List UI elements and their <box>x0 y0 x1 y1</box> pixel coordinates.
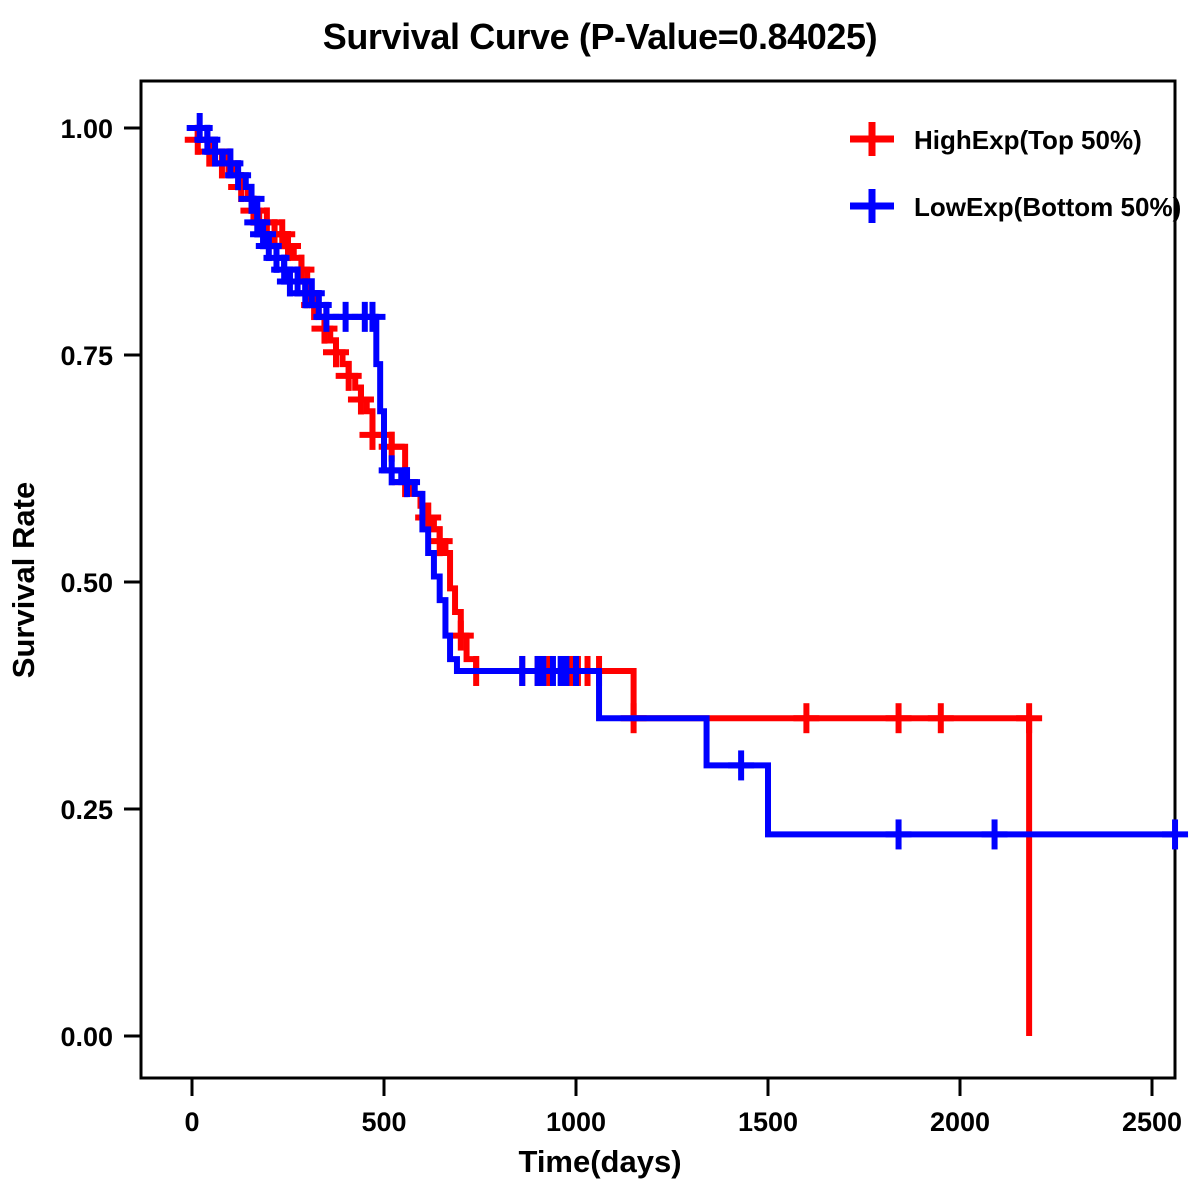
legend-label: LowExp(Bottom 50%) <box>914 192 1181 222</box>
plus-marker <box>850 122 894 156</box>
series-lowexp <box>187 113 1188 849</box>
x-tick-label: 500 <box>361 1107 406 1137</box>
x-axis-label: Time(days) <box>518 1144 681 1179</box>
censor-plus-marker <box>886 703 912 733</box>
y-tick-label: 0.50 <box>60 568 113 598</box>
y-axis-label: Survival Rate <box>6 482 41 678</box>
censor-plus-marker <box>886 819 912 849</box>
legend-item-highexp[interactable]: HighExp(Top 50%) <box>850 122 1142 156</box>
censor-plus-marker <box>728 750 754 780</box>
x-tick-label: 2500 <box>1122 1107 1182 1137</box>
x-tick-label: 2000 <box>930 1107 990 1137</box>
censor-plus-marker <box>1162 819 1188 849</box>
y-tick-label: 0.00 <box>60 1022 113 1052</box>
series-group <box>185 113 1188 1036</box>
legend-label: HighExp(Top 50%) <box>914 125 1142 155</box>
plot-frame <box>141 81 1175 1078</box>
x-axis: 05001000150020002500 <box>184 1078 1182 1137</box>
x-tick-label: 0 <box>184 1107 199 1137</box>
chart-legend: HighExp(Top 50%)LowExp(Bottom 50%) <box>850 122 1181 223</box>
y-tick-label: 1.00 <box>60 114 113 144</box>
survival-plot: 0.000.250.500.751.00 0500100015002000250… <box>0 0 1200 1200</box>
censor-plus-marker <box>928 703 954 733</box>
series-highexp <box>185 125 1042 1036</box>
survival-curve-figure: Survival Curve (P-Value=0.84025) 0.000.2… <box>0 0 1200 1200</box>
censor-plus-marker <box>982 819 1008 849</box>
x-tick-label: 1000 <box>546 1107 606 1137</box>
y-axis: 0.000.250.500.751.00 <box>60 114 141 1052</box>
y-tick-label: 0.75 <box>60 341 113 371</box>
survival-step-line <box>192 128 1029 1036</box>
y-tick-label: 0.25 <box>60 795 113 825</box>
legend-item-lowexp[interactable]: LowExp(Bottom 50%) <box>850 189 1181 223</box>
x-tick-label: 1500 <box>738 1107 798 1137</box>
plus-marker <box>850 189 894 223</box>
censor-plus-marker <box>1016 703 1042 733</box>
censor-plus-marker <box>793 703 819 733</box>
